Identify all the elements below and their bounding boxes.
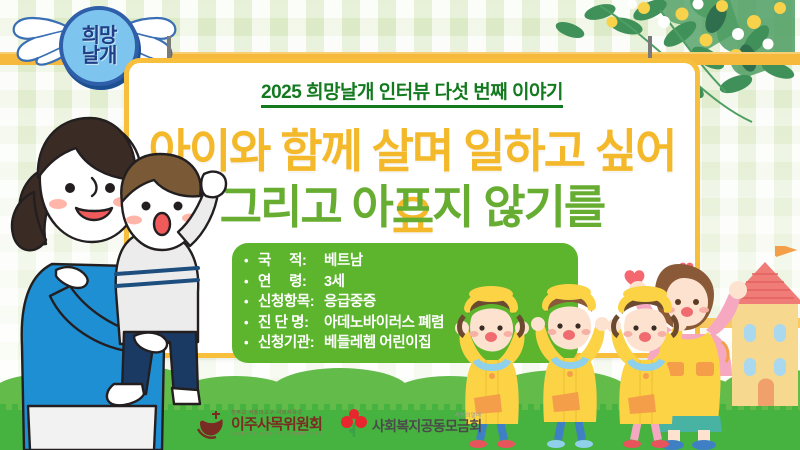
logo-text-line2: 날개 [82, 46, 117, 66]
sponsor1-english-name: MIGRANT PASTORAL COMMITTEE [231, 432, 323, 436]
info-label: 진 단 명: [258, 313, 324, 334]
info-value: 응급중증 [324, 292, 376, 313]
mother-and-child-illustration [0, 96, 230, 450]
info-value: 베들레헴 어린이집 [324, 333, 431, 354]
info-value: 베트남 [324, 251, 363, 272]
poster-canvas: 희망 날개 2025 희망날개 인터뷰 다섯 번째 이야기 아이와 함께 살며 … [0, 0, 800, 450]
bullet-icon: • [244, 334, 258, 352]
info-label: 국 적: [258, 251, 324, 272]
info-label: 신청기관: [258, 333, 324, 354]
bullet-icon: • [244, 314, 258, 332]
sponsor2-name: 사회복지공동모금회 [372, 419, 482, 434]
sponsor-logo-migrant-pastoral-committee: 천주교 서울대교구 사회사목국 이주사목위원회 MIGRANT PASTORAL… [196, 409, 323, 439]
bullet-icon: • [244, 273, 258, 291]
info-label: 연 령: [258, 272, 324, 293]
info-value: 아데노바이러스 폐렴 [324, 313, 444, 334]
logo-text-line1: 희망 [82, 26, 117, 46]
sponsor-logo-row: 천주교 서울대교구 사회사목국 이주사목위원회 MIGRANT PASTORAL… [196, 404, 506, 444]
card-subtitle-text: 2025 희망날개 인터뷰 다섯 번째 이야기 [261, 82, 563, 108]
info-value: 3세 [324, 272, 345, 293]
bullet-icon: • [244, 293, 258, 311]
sponsor-logo-community-chest: 사랑의열매 사회복지공동모금회 [341, 409, 482, 439]
chalice-cross-icon [196, 409, 226, 439]
bullet-icon: • [244, 252, 258, 270]
info-label: 신청항목: [258, 292, 324, 313]
fruit-of-love-icon [341, 409, 367, 439]
sponsor1-name: 이주사목위원회 [231, 417, 323, 433]
